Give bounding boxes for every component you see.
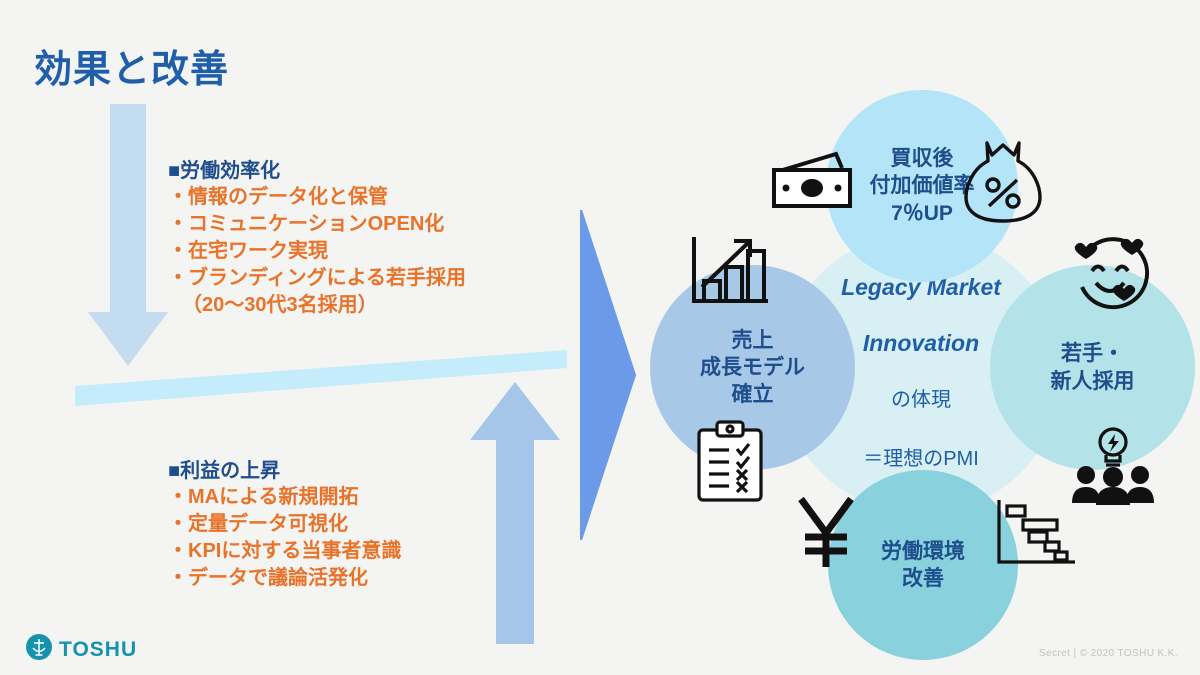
up-arrow-shaft bbox=[496, 438, 534, 644]
bullet-item-sub: （20～30代3名採用） bbox=[168, 292, 466, 319]
bullet-item: ・情報のデータ化と保管 bbox=[168, 184, 466, 211]
center-line-jp-1: の体現 bbox=[841, 388, 1001, 414]
text-block-labor-efficiency: ■労働効率化 ・情報のデータ化と保管 ・コミュニケーションOPEN化 ・在宅ワー… bbox=[168, 158, 466, 318]
down-arrow bbox=[88, 104, 168, 366]
bullet-item: ・定量データ可視化 bbox=[168, 511, 401, 538]
bullet-item: ・データで議論活発化 bbox=[168, 565, 401, 592]
money-bills-icon bbox=[770, 150, 858, 217]
yen-symbol-icon bbox=[795, 495, 857, 576]
block-heading: ■労働効率化 bbox=[168, 158, 466, 184]
bullet-item: ・MAによる新規開拓 bbox=[168, 484, 401, 511]
bullet-item: ・ブランディングによる若手採用 bbox=[168, 265, 466, 292]
center-line-jp-2: ＝理想のPMI bbox=[841, 447, 1001, 473]
up-arrow bbox=[470, 382, 560, 644]
toshu-tree-mark-icon bbox=[26, 634, 52, 665]
center-label: Legacy Market Innovation の体現 ＝理想のPMI bbox=[841, 246, 1001, 499]
node-label: 買収後 付加価値率 7％UP bbox=[870, 145, 975, 227]
bullet-item: ・コミュニケーションOPEN化 bbox=[168, 211, 466, 238]
gantt-chart-icon bbox=[995, 498, 1077, 573]
text-block-profit-increase: ■利益の上昇 ・MAによる新規開拓 ・定量データ可視化 ・KPIに対する当事者意… bbox=[168, 458, 401, 592]
bullet-item: ・在宅ワーク実現 bbox=[168, 238, 466, 265]
node-label: 売上 成長モデル 確立 bbox=[700, 327, 805, 409]
happy-face-hearts-icon bbox=[1070, 235, 1150, 320]
slide-canvas: 効果と改善 ■労働効率化 ・情報のデータ化と保管 ・コミュニケーションOPEN化… bbox=[0, 0, 1200, 675]
bullet-item: ・KPIに対する当事者意識 bbox=[168, 538, 401, 565]
toshu-logo: TOSHU bbox=[26, 634, 137, 665]
seesaw-bar bbox=[75, 350, 567, 406]
toshu-logo-text: TOSHU bbox=[59, 638, 137, 662]
money-bag-percent-icon bbox=[960, 135, 1046, 232]
node-label: 若手・ 新人採用 bbox=[1051, 340, 1135, 395]
down-arrow-shaft bbox=[110, 104, 146, 314]
clipboard-checklist-icon bbox=[695, 420, 765, 509]
footer-confidentiality-note: Secret | © 2020 TOSHU K.K. bbox=[1039, 648, 1178, 659]
page-title: 効果と改善 bbox=[34, 38, 229, 93]
bar-chart-growth-icon bbox=[690, 235, 770, 312]
center-line-en-2: Innovation bbox=[841, 329, 1001, 358]
team-lightbulb-icon bbox=[1070, 425, 1156, 510]
node-label: 労働環境 改善 bbox=[881, 538, 965, 593]
circle-diagram: Legacy Market Innovation の体現 ＝理想のPMI 買収後… bbox=[630, 80, 1200, 660]
block-heading: ■利益の上昇 bbox=[168, 458, 401, 484]
